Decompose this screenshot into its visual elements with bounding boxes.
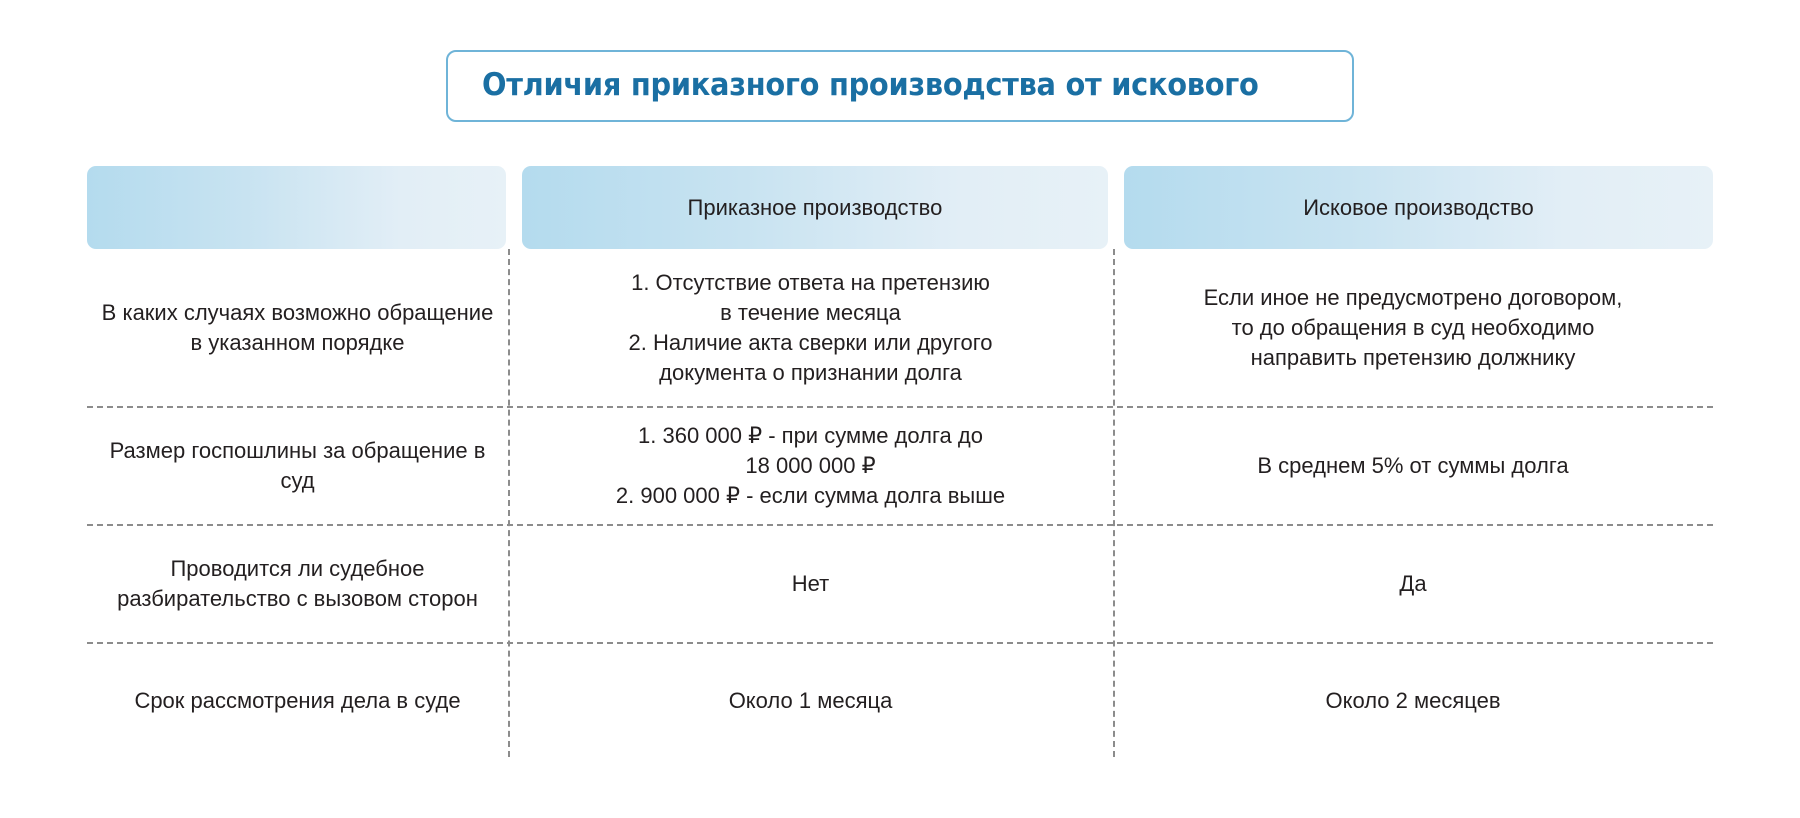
column-divider-2 xyxy=(1113,249,1115,757)
table-cell-text: Если иное не предусмотрено договором, то… xyxy=(1204,283,1623,373)
table-cell-text: 1. 360 000 ₽ - при сумме долга до 18 000… xyxy=(616,421,1005,511)
table-cell-criterion: Проводится ли судебное разбирательство с… xyxy=(87,526,508,642)
table-cell-criterion: Срок рассмотрения дела в суде xyxy=(87,644,508,757)
table-cell-criterion: Размер госпошлины за обращение в суд xyxy=(87,408,508,524)
table-cell-criterion: В каких случаях возможно обращение в ука… xyxy=(87,249,508,406)
table-header-cell-claim-procedure: Исковое производство xyxy=(1124,166,1713,249)
comparison-table: Приказное производство Исковое производс… xyxy=(87,166,1713,757)
table-row: Размер госпошлины за обращение в суд 1. … xyxy=(87,406,1713,524)
table-header-label-claim-procedure: Исковое производство xyxy=(1303,195,1533,221)
title-box: Отличия приказного производства от исков… xyxy=(446,50,1353,122)
table-header-cell-criterion xyxy=(87,166,506,249)
page-title: Отличия приказного производства от исков… xyxy=(482,68,1259,102)
table-cell-text: Около 1 месяца xyxy=(729,686,893,716)
table-cell-text: Проводится ли судебное разбирательство с… xyxy=(97,554,498,614)
table-cell-claim-procedure: В среднем 5% от суммы долга xyxy=(1113,408,1713,524)
table-body: В каких случаях возможно обращение в ука… xyxy=(87,249,1713,757)
table-header-row: Приказное производство Исковое производс… xyxy=(87,166,1713,249)
table-row: В каких случаях возможно обращение в ука… xyxy=(87,249,1713,406)
table-cell-text: Около 2 месяцев xyxy=(1325,686,1500,716)
table-cell-text: Размер госпошлины за обращение в суд xyxy=(97,436,498,496)
table-row: Проводится ли судебное разбирательство с… xyxy=(87,524,1713,642)
table-cell-claim-procedure: Около 2 месяцев xyxy=(1113,644,1713,757)
infographic-page: Отличия приказного производства от исков… xyxy=(0,0,1800,818)
table-cell-order-procedure: 1. Отсутствие ответа на претензию в тече… xyxy=(508,249,1113,406)
table-header-label-order-procedure: Приказное производство xyxy=(688,195,943,221)
table-cell-text: В каких случаях возможно обращение в ука… xyxy=(97,298,498,358)
table-cell-claim-procedure: Да xyxy=(1113,526,1713,642)
table-cell-text: Нет xyxy=(792,569,829,599)
table-cell-order-procedure: 1. 360 000 ₽ - при сумме долга до 18 000… xyxy=(508,408,1113,524)
table-cell-order-procedure: Около 1 месяца xyxy=(508,644,1113,757)
column-divider-1 xyxy=(508,249,510,757)
table-cell-text: 1. Отсутствие ответа на претензию в тече… xyxy=(629,268,993,388)
table-row: Срок рассмотрения дела в суде Около 1 ме… xyxy=(87,642,1713,757)
table-cell-claim-procedure: Если иное не предусмотрено договором, то… xyxy=(1113,249,1713,406)
table-cell-text: Срок рассмотрения дела в суде xyxy=(134,686,460,716)
table-cell-text: Да xyxy=(1399,569,1426,599)
table-header-cell-order-procedure: Приказное производство xyxy=(522,166,1108,249)
table-cell-order-procedure: Нет xyxy=(508,526,1113,642)
table-cell-text: В среднем 5% от суммы долга xyxy=(1257,451,1568,481)
title-container: Отличия приказного производства от исков… xyxy=(0,50,1800,122)
